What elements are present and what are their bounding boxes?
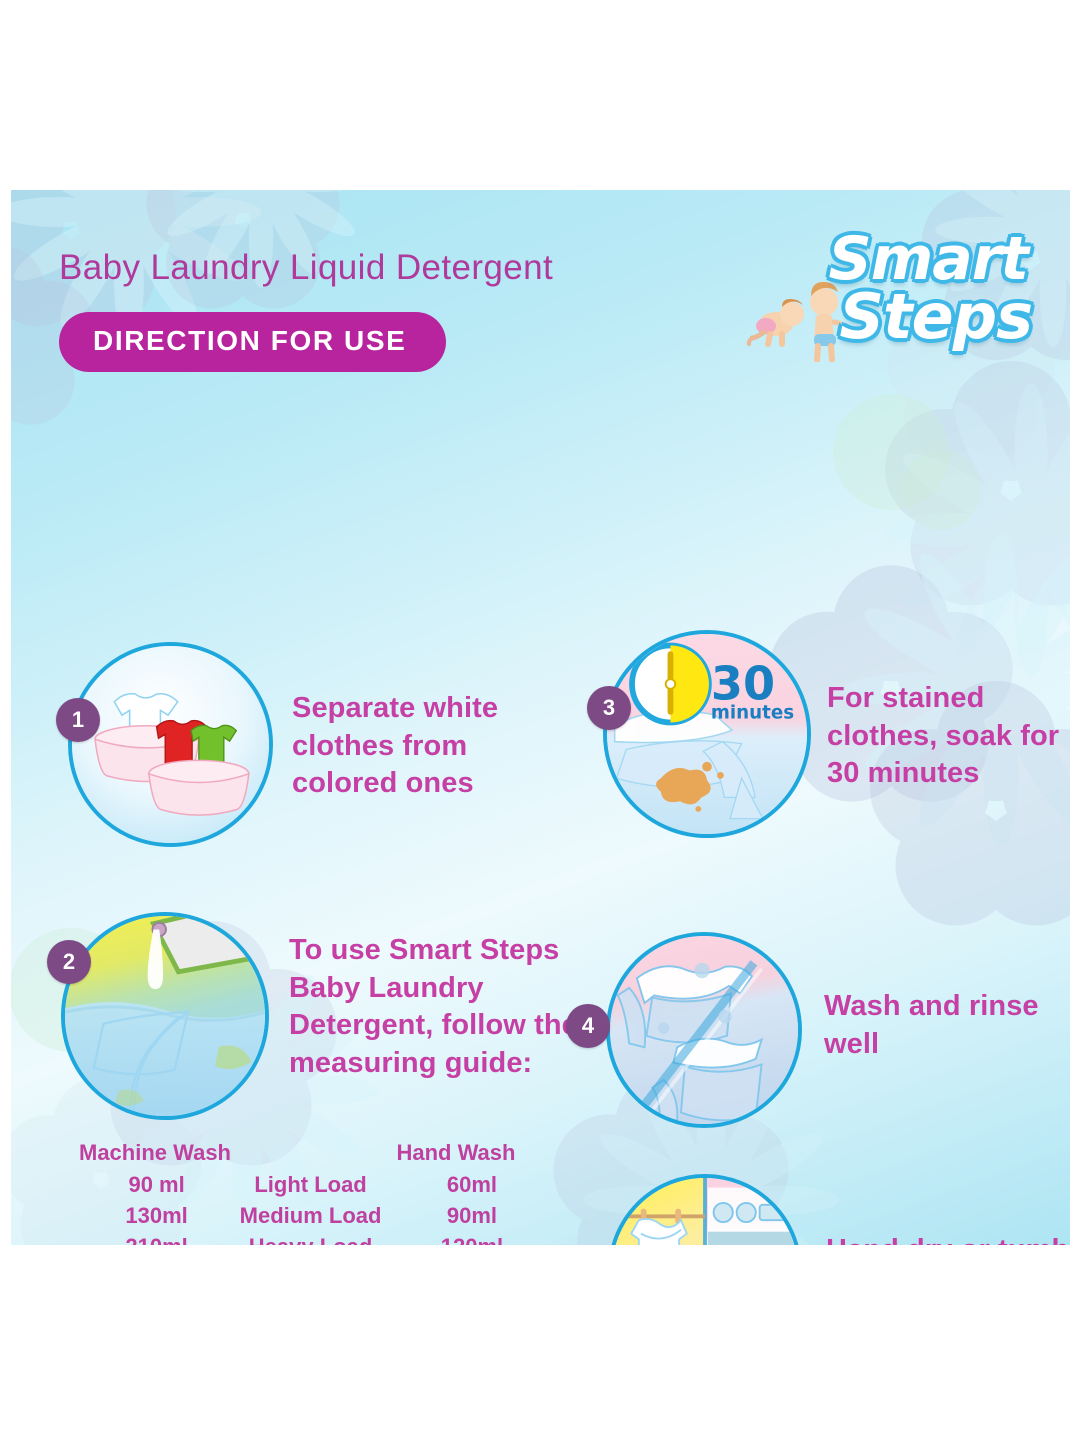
hand-dry-tumble-dry-icon — [612, 1178, 798, 1245]
load-type: Heavy Load — [216, 1234, 405, 1245]
page-title: Baby Laundry Liquid Detergent — [59, 248, 553, 288]
machine-amount: 210ml — [79, 1234, 216, 1245]
measuring-guide-headers: Machine Wash Hand Wash — [79, 1140, 539, 1166]
load-type: Light Load — [216, 1172, 405, 1198]
brand-logo: Smart Steps — [742, 218, 1032, 368]
direction-for-use-badge: DIRECTION FOR USE — [59, 312, 446, 372]
logo-line-steps: Steps — [839, 280, 1032, 353]
machine-amount: 130ml — [79, 1203, 216, 1229]
two-basins-icon — [72, 646, 269, 843]
machine-amount: 90 ml — [79, 1172, 216, 1198]
step-1-illustration — [68, 642, 273, 847]
measuring-guide-table: Machine Wash Hand Wash 90 ml Light Load … — [79, 1140, 539, 1245]
step-2-number-badge: 2 — [47, 940, 91, 984]
table-row: 210ml Heavy Load 120ml — [79, 1234, 539, 1245]
measuring-pour-icon — [65, 916, 265, 1116]
step-5-text: Hand dry or tumble dry — [826, 1232, 1070, 1245]
info-panel: Baby Laundry Liquid Detergent DIRECTION … — [11, 190, 1070, 1245]
step-3-illustration: 30 minutes — [603, 630, 811, 838]
step-2-illustration — [61, 912, 269, 1120]
clock-unit-text: minutes — [711, 703, 794, 724]
header-hand-wash: Hand Wash — [381, 1140, 539, 1166]
soak-30-minutes-icon: 30 minutes — [607, 634, 807, 834]
step-2-text: To use Smart Steps Baby Laundry Detergen… — [289, 932, 581, 1083]
table-row: 90 ml Light Load 60ml — [79, 1172, 539, 1198]
page-root: Baby Laundry Liquid Detergent DIRECTION … — [0, 0, 1080, 1440]
step-4-text: Wash and rinse well — [824, 988, 1070, 1063]
hand-amount: 60ml — [405, 1172, 539, 1198]
step-5-illustration — [608, 1174, 802, 1245]
wash-and-rinse-icon — [610, 936, 798, 1124]
step-3-number-badge: 3 — [587, 686, 631, 730]
step-3-text: For stained clothes, soak for 30 minutes — [827, 680, 1070, 793]
step-1-text: Separate white clothes from colored ones — [292, 690, 562, 803]
hand-amount: 120ml — [405, 1234, 539, 1245]
step-4-illustration — [606, 932, 802, 1128]
hand-amount: 90ml — [405, 1203, 539, 1229]
table-row: 130ml Medium Load 90ml — [79, 1203, 539, 1229]
panel-header: Baby Laundry Liquid Detergent DIRECTION … — [11, 190, 1070, 400]
step-4-number-badge: 4 — [566, 1004, 610, 1048]
step-1-number-badge: 1 — [56, 698, 100, 742]
load-type: Medium Load — [216, 1203, 405, 1229]
logo-wordmark: Smart Steps — [742, 218, 1032, 368]
header-machine-wash: Machine Wash — [79, 1140, 279, 1166]
